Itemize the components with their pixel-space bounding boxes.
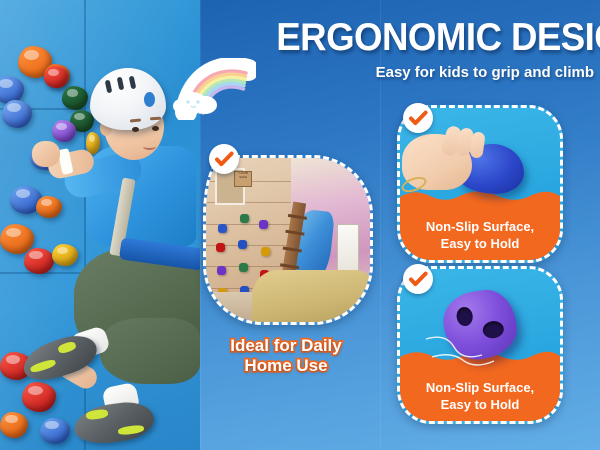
rainbow-cloud-sticker bbox=[172, 58, 256, 120]
child-pants-lower bbox=[100, 318, 200, 384]
card-caption-line2: Easy to Hold bbox=[441, 397, 520, 412]
child-eye bbox=[132, 127, 139, 132]
child-mouth bbox=[143, 143, 156, 150]
check-icon bbox=[209, 144, 239, 174]
wall-hold-blue bbox=[40, 418, 70, 444]
wall-hold-green bbox=[62, 86, 88, 110]
mini-hold bbox=[261, 247, 270, 256]
child-eye bbox=[152, 126, 159, 131]
hold-hole bbox=[455, 306, 473, 327]
playroom-caption-line2: Home Use bbox=[244, 356, 327, 375]
mini-hold bbox=[238, 240, 247, 249]
mini-hold bbox=[218, 224, 227, 233]
product-feature-poster: ERGONOMIC DESIGN Easy for kids to grip a… bbox=[0, 0, 600, 450]
mini-hold bbox=[239, 263, 248, 272]
mini-hold bbox=[217, 266, 226, 275]
page-subtitle: Easy for kids to grip and climb bbox=[256, 64, 594, 81]
mini-hold bbox=[240, 214, 249, 223]
decorative-swirl bbox=[424, 331, 504, 371]
card-caption-line2: Easy to Hold bbox=[441, 236, 520, 251]
card-caption: Non-Slip Surface, Easy to Hold bbox=[400, 218, 560, 253]
card-caption: Non-Slip Surface, Easy to Hold bbox=[400, 379, 560, 414]
mini-hold bbox=[259, 220, 268, 229]
helmet-logo bbox=[144, 92, 155, 107]
wall-hold-red bbox=[44, 66, 68, 88]
couch bbox=[252, 270, 373, 322]
page-title: ERGONOMIC DESIGN bbox=[276, 16, 594, 60]
playroom-caption: Ideal for Daily Home Use bbox=[200, 336, 372, 376]
wall-hold-red bbox=[22, 382, 56, 412]
child-climbing-wall-photo bbox=[0, 0, 200, 450]
wall-hold-blue bbox=[2, 100, 32, 128]
card-caption-line1: Non-Slip Surface, bbox=[426, 219, 534, 234]
mini-hold bbox=[216, 243, 225, 252]
helmet-vent bbox=[129, 76, 137, 90]
card-caption-line1: Non-Slip Surface, bbox=[426, 380, 534, 395]
check-icon bbox=[403, 264, 433, 294]
wall-hold-yellow bbox=[52, 244, 78, 266]
helmet-vent bbox=[105, 80, 113, 94]
playroom-photo: CLIMB SAFE bbox=[203, 155, 373, 325]
playroom-caption-line1: Ideal for Daily bbox=[230, 336, 341, 355]
helmet-vent bbox=[117, 77, 125, 91]
wall-hold-orange bbox=[0, 412, 28, 438]
wall-hold-purple bbox=[52, 120, 76, 142]
wall-hold-red bbox=[24, 248, 54, 274]
check-icon bbox=[403, 103, 433, 133]
wall-hold-orange bbox=[36, 196, 62, 218]
child-hand bbox=[32, 141, 60, 167]
